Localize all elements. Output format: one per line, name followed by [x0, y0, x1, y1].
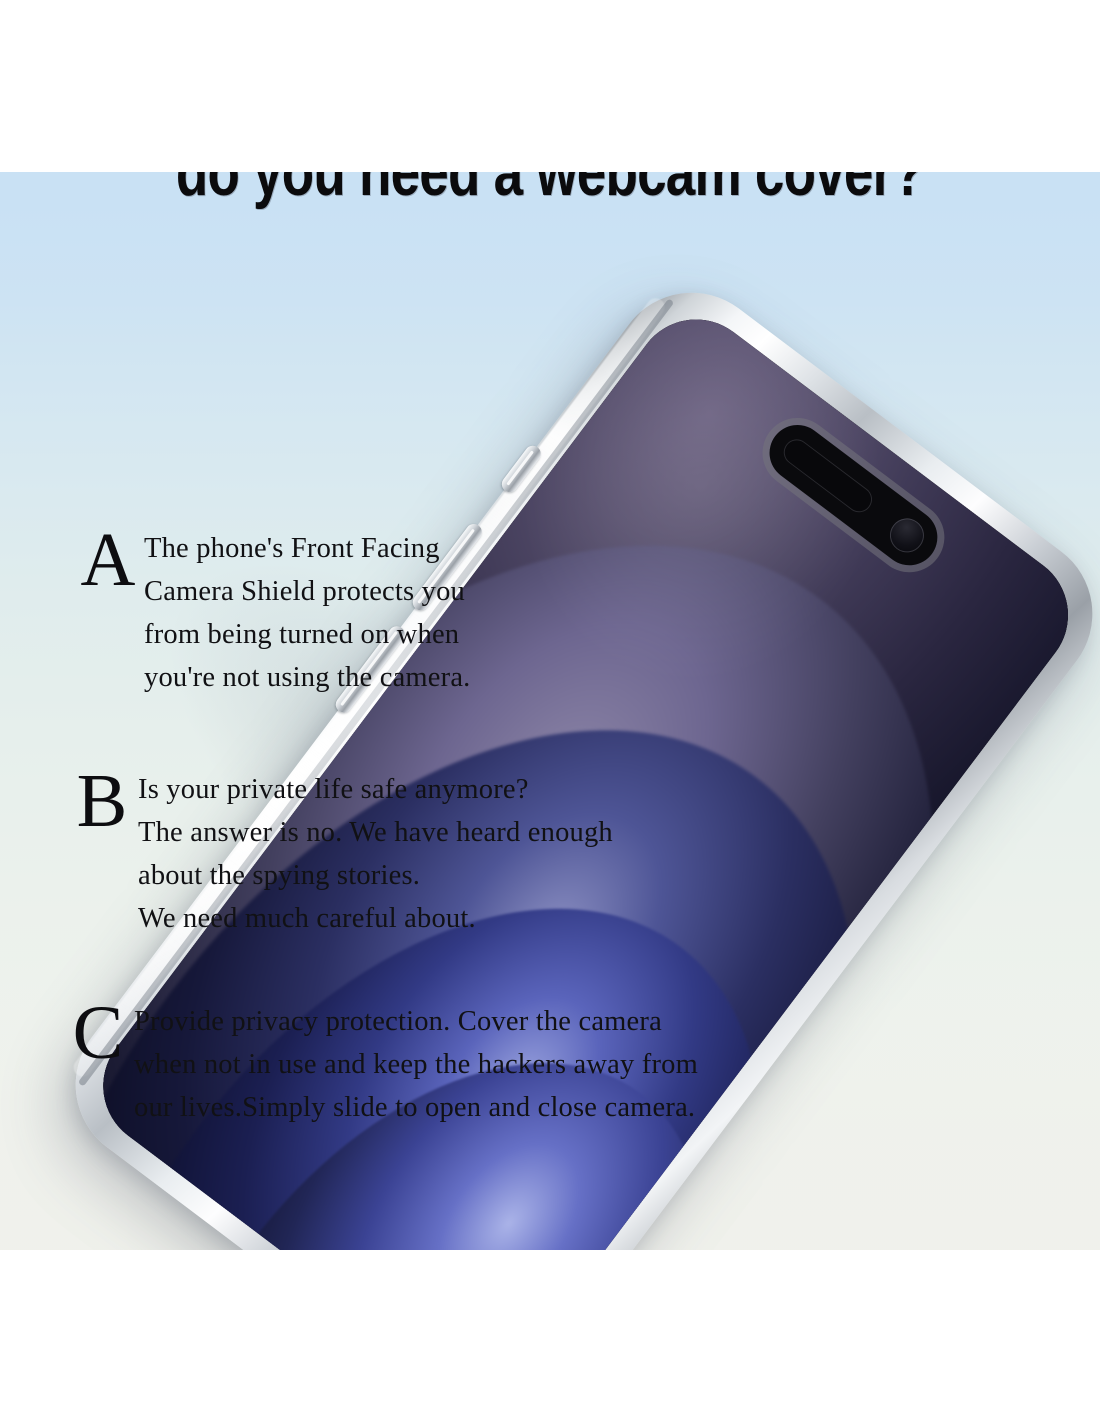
benefit-item-b: B Is your private life safe anymore? The…	[66, 768, 613, 940]
benefit-item-a: A The phone's Front Facing Camera Shield…	[72, 527, 471, 699]
letterbox-bar-top	[0, 0, 1100, 172]
letterbox-bar-bottom	[0, 1250, 1100, 1422]
benefit-marker-c: C	[62, 1000, 134, 1067]
benefit-text-a: The phone's Front Facing Camera Shield p…	[144, 527, 471, 699]
benefit-item-c: C Provide privacy protection. Cover the …	[62, 1000, 698, 1129]
benefit-text-b: Is your private life safe anymore? The a…	[138, 768, 613, 940]
benefit-list: A The phone's Front Facing Camera Shield…	[0, 0, 1100, 1422]
poster-canvas: WHY? do you need a webcam cover? A The p…	[0, 0, 1100, 1422]
benefit-text-c: Provide privacy protection. Cover the ca…	[134, 1000, 698, 1129]
benefit-marker-b: B	[66, 768, 138, 835]
benefit-marker-a: A	[72, 527, 144, 594]
